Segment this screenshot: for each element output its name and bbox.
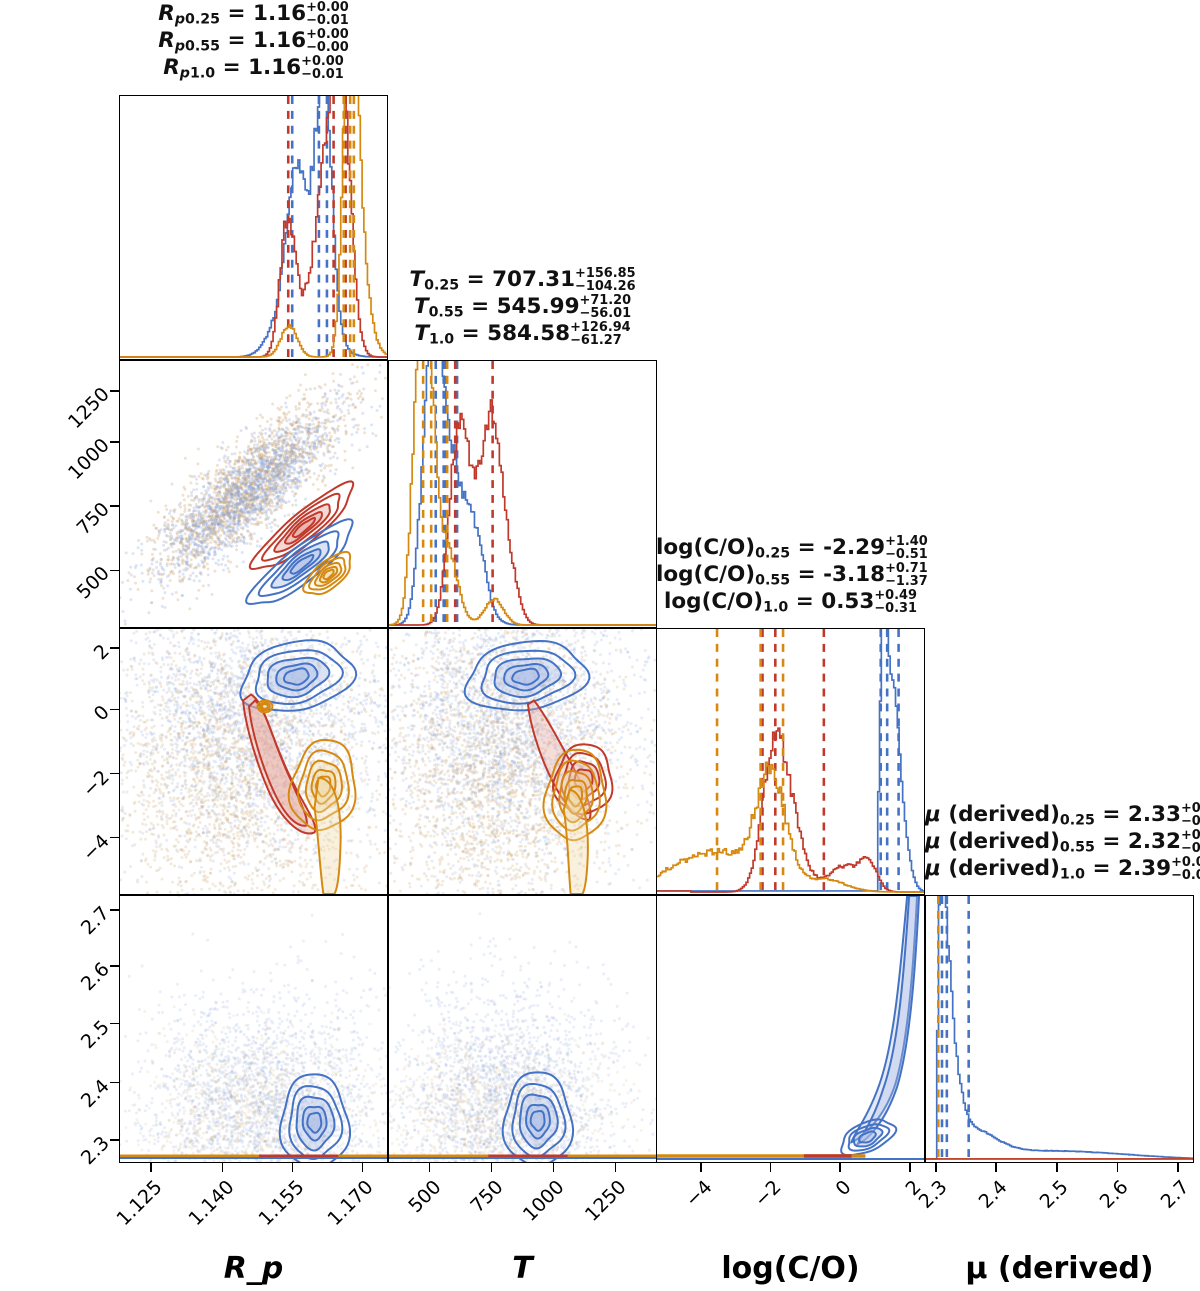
sample-point [236,510,239,513]
sample-point [214,547,217,550]
sample-point [214,497,217,500]
sample-point [304,468,307,471]
sample-point [291,504,294,507]
sample-point [363,870,366,873]
sample-point [222,514,225,517]
sample-point [259,545,262,548]
sample-point [377,731,380,734]
sample-point [213,743,216,746]
sample-point [230,490,233,493]
sample-point [370,423,373,426]
sample-point [237,837,240,840]
sample-point [345,755,348,758]
sample-point [275,474,278,477]
sample-point [198,475,201,478]
sample-point [283,435,286,438]
sample-point [320,469,323,472]
sample-point [165,548,168,551]
sample-point [285,448,288,451]
sample-point [217,529,220,532]
sample-point [287,864,290,867]
sample-point [170,827,173,830]
sample-point [228,503,231,506]
sample-point [293,860,296,863]
sample-point [148,568,151,571]
sample-point [268,522,271,525]
sample-point [208,554,211,557]
sample-point [177,678,180,681]
sample-point [219,797,222,800]
sample-point [291,759,294,762]
sample-point [196,803,199,806]
sample-point [230,477,233,480]
sample-point [261,460,264,463]
sample-point [216,510,219,513]
sample-point [260,496,263,499]
sample-point [213,540,216,543]
sample-point [169,509,172,512]
sample-point [251,872,254,875]
sample-point [295,408,298,411]
sample-point [195,788,198,791]
sample-point [149,499,152,502]
sample-point [208,497,211,500]
sample-point [225,465,228,468]
sample-point [269,423,272,426]
sample-point [305,408,308,411]
sample-point [283,429,286,432]
sample-point [325,411,328,414]
sample-point [197,826,200,829]
sample-point [160,685,163,688]
sample-point [353,878,356,881]
sample-point [197,447,200,450]
sample-point [326,397,329,400]
sample-point [198,722,201,725]
sample-point [209,847,212,850]
sample-point [201,503,204,506]
sample-point [324,464,327,467]
sample-point [333,429,336,432]
sample-point [310,403,313,406]
title-line: Rp1.0 = 1.16+0.00−0.01 [119,56,388,82]
sample-point [182,494,185,497]
sample-point [224,479,227,482]
sample-point [252,508,255,511]
sample-point [275,812,278,815]
sample-point [243,848,246,851]
sample-point [171,593,174,596]
sample-point [238,492,241,495]
sample-point [185,519,188,522]
sample-point [178,877,181,880]
sample-point [261,445,264,448]
sample-point [260,537,263,540]
sample-point [324,422,327,425]
sample-point [216,445,219,448]
sample-point [369,681,372,684]
sample-point [230,541,233,544]
sample-point [267,445,270,448]
sample-point [237,528,240,531]
sample-point [347,741,350,744]
sample-point [303,414,306,417]
sample-point [297,428,300,431]
sample-point [192,825,195,828]
sample-point [133,801,136,804]
sample-point [325,438,328,441]
sample-point [308,417,311,420]
sample-point [146,536,149,539]
title-line: log(C/O)1.0 = 0.53+0.49−0.31 [656,590,925,616]
sample-point [260,504,263,507]
sample-point [305,423,308,426]
sample-point [145,726,148,729]
sample-point [176,598,179,601]
sample-point [284,845,287,848]
sample-point [262,448,265,451]
sample-point [174,539,177,542]
sample-point [145,756,148,759]
sample-point [326,630,329,633]
sample-point [162,826,165,829]
sample-point [147,611,150,614]
title-line: μ (derived)0.25 = 2.33+0.00−0.00 [925,803,1194,829]
sample-point [155,566,158,569]
sample-point [140,553,143,556]
sample-point [232,865,235,868]
sample-point [289,768,292,771]
sample-point [295,699,298,702]
sample-point [299,874,302,877]
sample-point [279,824,282,827]
sample-point [175,828,178,831]
sample-point [253,432,256,435]
sample-point [166,564,169,567]
sample-point [183,636,186,639]
sample-point [236,503,239,506]
sample-point [121,581,124,584]
sample-point [243,450,246,453]
sample-point [317,474,320,477]
sample-point [125,776,128,779]
sample-point [281,444,284,447]
sample-point [242,503,245,506]
sample-point [310,432,313,435]
sample-point [270,526,273,529]
sample-point [224,828,227,831]
sample-point [216,514,219,517]
sample-point [251,504,254,507]
sample-point [240,856,243,859]
sample-point [171,570,174,573]
sample-point [379,405,382,408]
sample-point [315,445,318,448]
sample-cloud [120,629,387,894]
sample-point [256,545,259,548]
sample-point [191,521,194,524]
sample-point [274,451,277,454]
sample-point [309,858,312,861]
sample-point [294,499,297,502]
sample-point [364,889,367,892]
sample-point [244,508,247,511]
sample-point [351,418,354,421]
sample-point [157,511,160,514]
sample-point [266,518,269,521]
sample-point [290,423,293,426]
sample-point [189,543,192,546]
sample-point [272,476,275,479]
sample-point [200,667,203,670]
sample-point [311,865,314,868]
sample-point [296,479,299,482]
sample-point [217,563,220,566]
sample-point [138,800,141,803]
sample-point [121,834,124,837]
sample-point [148,794,151,797]
sample-point [233,463,236,466]
sample-point [219,782,222,785]
sample-point [131,700,134,703]
sample-point [198,807,201,810]
sample-point [203,657,206,660]
sample-point [348,404,351,407]
sample-point [324,404,327,407]
sample-point [218,538,221,541]
sample-point [132,733,135,736]
hist-T-svg [389,361,656,627]
sample-point [169,537,172,540]
sample-point [232,467,235,470]
sample-point [329,469,332,472]
sample-point [348,868,351,871]
sample-point [180,538,183,541]
sample-point [155,527,158,530]
sample-point [185,524,188,527]
sample-point [249,506,252,509]
sample-point [137,725,140,728]
sample-point [335,468,338,471]
sample-point [129,691,132,694]
sample-point [263,510,266,513]
sample-point [366,363,369,366]
sample-point [316,451,319,454]
sample-point [198,544,201,547]
sample-point [126,824,129,827]
sample-point [252,455,255,458]
sample-point [162,572,165,575]
sample-point [169,641,172,644]
sample-point [159,552,162,555]
sample-point [254,440,257,443]
sample-point [159,582,162,585]
sample-point [163,540,166,543]
sample-point [328,748,331,751]
sample-point [188,578,191,581]
sample-point [274,523,277,526]
sample-point [195,509,198,512]
sample-point [181,513,184,516]
sample-point [228,471,231,474]
sample-point [288,475,291,478]
sample-point [160,848,163,851]
sample-point [253,463,256,466]
sample-point [272,444,275,447]
sample-point [296,447,299,450]
sample-point [285,426,288,429]
sample-point [202,538,205,541]
sample-point [131,668,134,671]
sample-point [323,428,326,431]
sample-point [129,588,132,591]
sample-point [198,532,201,535]
sample-point [203,711,206,714]
sample-point [318,464,321,467]
sample-point [133,575,136,578]
sample-point [223,532,226,535]
sample-point [246,810,249,813]
sample-point [239,486,242,489]
sample-point [194,743,197,746]
sample-point [232,510,235,513]
sample-point [203,870,206,873]
sample-point [341,402,344,405]
sample-point [220,563,223,566]
sample-point [185,548,188,551]
sample-point [298,460,301,463]
sample-point [279,467,282,470]
sample-point [337,441,340,444]
sample-point [313,387,316,390]
sample-point [213,771,216,774]
sample-point [153,574,156,577]
sample-point [203,716,206,719]
sample-point [174,773,177,776]
sample-point [280,507,283,510]
sample-point [161,695,164,698]
sample-point [215,534,218,537]
sample-point [216,464,219,467]
sample-point [139,719,142,722]
sample-point [167,519,170,522]
sample-point [334,472,337,475]
sample-point [128,571,131,574]
sample-point [190,516,193,519]
sample-point [316,478,319,481]
sample-point [254,867,257,870]
sample-point [170,663,173,666]
sample-point [137,588,140,591]
sample-point [370,406,373,409]
sample-point [208,527,211,530]
sample-point [241,464,244,467]
sample-point [247,892,250,894]
sample-point [232,521,235,524]
sample-point [154,855,157,858]
sample-point [227,540,230,543]
sample-point [213,550,216,553]
sample-point [208,888,211,891]
sample-point [166,558,169,561]
sample-point [257,459,260,462]
sample-point [379,364,382,367]
sample-point [247,874,250,877]
sample-point [245,498,248,501]
sample-point [177,841,180,844]
sample-point [308,423,311,426]
sample-point [296,471,299,474]
sample-point [232,515,235,518]
sample-point [275,448,278,451]
sample-point [192,572,195,575]
sample-point [247,521,250,524]
sample-point [380,416,383,419]
sample-point [143,682,146,685]
sample-point [329,389,332,392]
sample-point [136,794,139,797]
sample-point [185,856,188,859]
sample-point [174,652,177,655]
sample-point [235,440,238,443]
sample-point [192,518,195,521]
sample-point [340,410,343,413]
sample-point [334,389,337,392]
sample-point [265,438,268,441]
sample-point [202,510,205,513]
sample-point [222,809,225,812]
sample-point [156,891,159,894]
sample-point [246,689,249,692]
sample-point [212,557,215,560]
sample-point [211,593,214,596]
sample-point [183,658,186,661]
sample-point [181,594,184,597]
sample-point [274,454,277,457]
sample-point [164,528,167,531]
sample-point [225,861,228,864]
sample-point [263,493,266,496]
sample-point [284,402,287,405]
sample-point [361,412,364,415]
sample-point [126,668,129,671]
sample-point [210,509,213,512]
sample-point [160,584,163,587]
sample-point [181,519,184,522]
sample-point [305,865,308,868]
sample-point [159,561,162,564]
sample-point [193,872,196,875]
sample-point [375,826,378,829]
sample-point [270,499,273,502]
sample-point [301,445,304,448]
sample-point [154,761,157,764]
sample-point [220,511,223,514]
sample-point [247,459,250,462]
sample-point [283,413,286,416]
sample-point [188,607,191,610]
sample-point [226,506,229,509]
sample-point [298,770,301,773]
sample-point [203,766,206,769]
sample-point [260,637,263,640]
sample-point [268,441,271,444]
sample-point [149,866,152,869]
sample-point [288,418,291,421]
sample-point [251,452,254,455]
sample-point [205,475,208,478]
sample-point [199,572,202,575]
